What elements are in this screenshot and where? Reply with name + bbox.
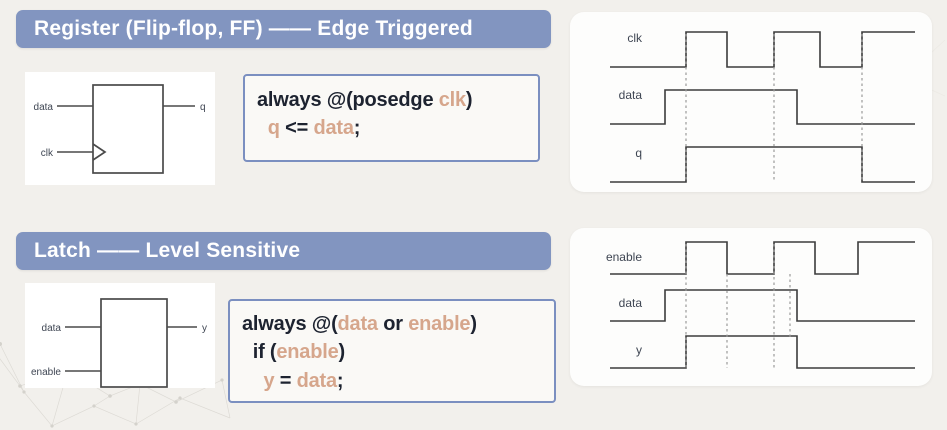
code-latch-line1-sig2: enable bbox=[408, 313, 470, 335]
code-ff-line2-post: ; bbox=[354, 117, 360, 139]
flipflop-block-diagram-card: data clk q bbox=[25, 72, 215, 185]
latch-input-enable-label: enable bbox=[31, 367, 61, 378]
code-latch-line3-sig2: data bbox=[297, 370, 337, 392]
waveform-data bbox=[610, 90, 915, 124]
latch-input-data-label: data bbox=[42, 323, 62, 334]
section-banner-latch: Latch —— Level Sensitive bbox=[16, 232, 551, 270]
code-ff-line1-pre: always @(posedge bbox=[257, 89, 439, 111]
section-banner-register: Register (Flip-flop, FF) —— Edge Trigger… bbox=[16, 10, 551, 48]
latch-block-diagram-card: data enable y bbox=[25, 283, 215, 388]
waveform-enable bbox=[610, 242, 915, 274]
timing-diagram-latch: enable data y bbox=[570, 228, 932, 386]
code-latch-line1-post: ) bbox=[470, 313, 476, 335]
code-block-latch: always @(data or enable) if (enable) y =… bbox=[228, 299, 556, 403]
banner-title-latch: Latch —— Level Sensitive bbox=[16, 239, 300, 263]
waveform-data-latch bbox=[610, 290, 915, 321]
waveform-clk bbox=[610, 32, 915, 67]
timing-label-enable: enable bbox=[606, 250, 642, 264]
latch-output-y-label: y bbox=[202, 323, 207, 334]
code-block-register: always @(posedge clk) q <= data; bbox=[243, 74, 540, 162]
timing-label-y: y bbox=[636, 343, 642, 357]
code-latch-line1-sig1: data bbox=[338, 313, 378, 335]
slide-canvas: Register (Flip-flop, FF) —— Edge Trigger… bbox=[0, 0, 947, 424]
code-ff-line2-mid: <= bbox=[280, 117, 314, 139]
code-ff-line1-sig: clk bbox=[439, 89, 466, 111]
timing-label-q: q bbox=[635, 146, 642, 160]
code-latch-line2-pre: if ( bbox=[253, 341, 277, 363]
code-latch-line1-pre: always @( bbox=[242, 313, 338, 335]
code-ff-line2-sig2: data bbox=[313, 117, 353, 139]
code-latch-line3-mid: = bbox=[274, 370, 296, 392]
code-latch-line2-indent bbox=[242, 341, 253, 363]
code-latch-line1-mid: or bbox=[378, 313, 408, 335]
flipflop-block-diagram: data clk q bbox=[25, 72, 215, 185]
waveform-y bbox=[610, 336, 915, 368]
timing-label-data-latch: data bbox=[619, 296, 643, 310]
code-latch-line3-indent bbox=[242, 370, 263, 392]
code-ff-line2-sig1: q bbox=[268, 117, 280, 139]
code-latch-line2-sig: enable bbox=[276, 341, 338, 363]
ff-input-clk-label: clk bbox=[41, 148, 54, 159]
enable-level-markers bbox=[686, 244, 790, 368]
code-ff-line1-post: ) bbox=[466, 89, 472, 111]
ff-output-q-label: q bbox=[200, 102, 206, 113]
timing-diagram-panel-register: clk data q bbox=[570, 12, 932, 192]
code-latch-line3-sig1: y bbox=[263, 370, 274, 392]
code-ff-line2-indent bbox=[257, 117, 268, 139]
banner-title-register: Register (Flip-flop, FF) —— Edge Trigger… bbox=[16, 17, 473, 41]
latch-block-diagram: data enable y bbox=[25, 283, 215, 388]
timing-label-clk: clk bbox=[627, 31, 643, 45]
code-latch-line2-post: ) bbox=[339, 341, 345, 363]
timing-label-data: data bbox=[619, 88, 643, 102]
code-latch-line3-post: ; bbox=[337, 370, 343, 392]
waveform-q bbox=[610, 147, 915, 182]
ff-input-data-label: data bbox=[34, 102, 54, 113]
clk-edge-markers bbox=[686, 34, 862, 182]
timing-diagram-panel-latch: enable data y bbox=[570, 228, 932, 386]
timing-diagram-register: clk data q bbox=[570, 12, 932, 192]
